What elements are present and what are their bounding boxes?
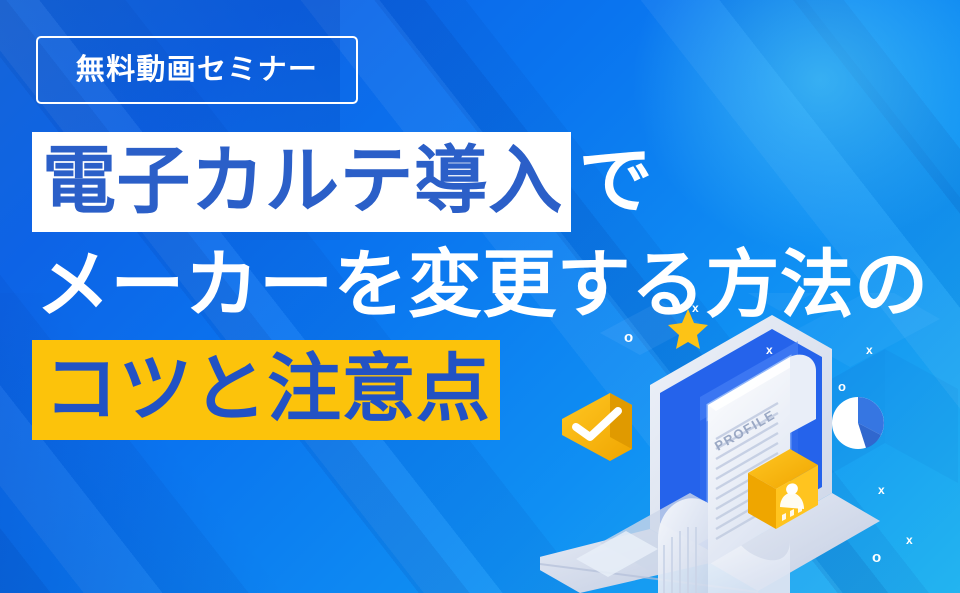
illustration-laptop-profile: PROFILE <box>540 293 960 593</box>
pie-chart-icon <box>832 397 884 449</box>
headline-segment-highlight-yellow: コツと注意点 <box>32 340 500 440</box>
seminar-badge-label: 無料動画セミナー <box>76 56 318 85</box>
seminar-banner: 無料動画セミナー 電子カルテ導入 で メーカーを変更する方法の コツと注意点 <box>0 0 960 593</box>
headline-line-1: 電子カルテ導入 で <box>0 132 960 232</box>
headline-segment-particle-de: で <box>571 132 659 232</box>
headline-segment-highlight-white: 電子カルテ導入 <box>32 132 571 232</box>
seminar-badge: 無料動画セミナー <box>36 36 358 104</box>
check-badge-icon <box>562 393 632 461</box>
